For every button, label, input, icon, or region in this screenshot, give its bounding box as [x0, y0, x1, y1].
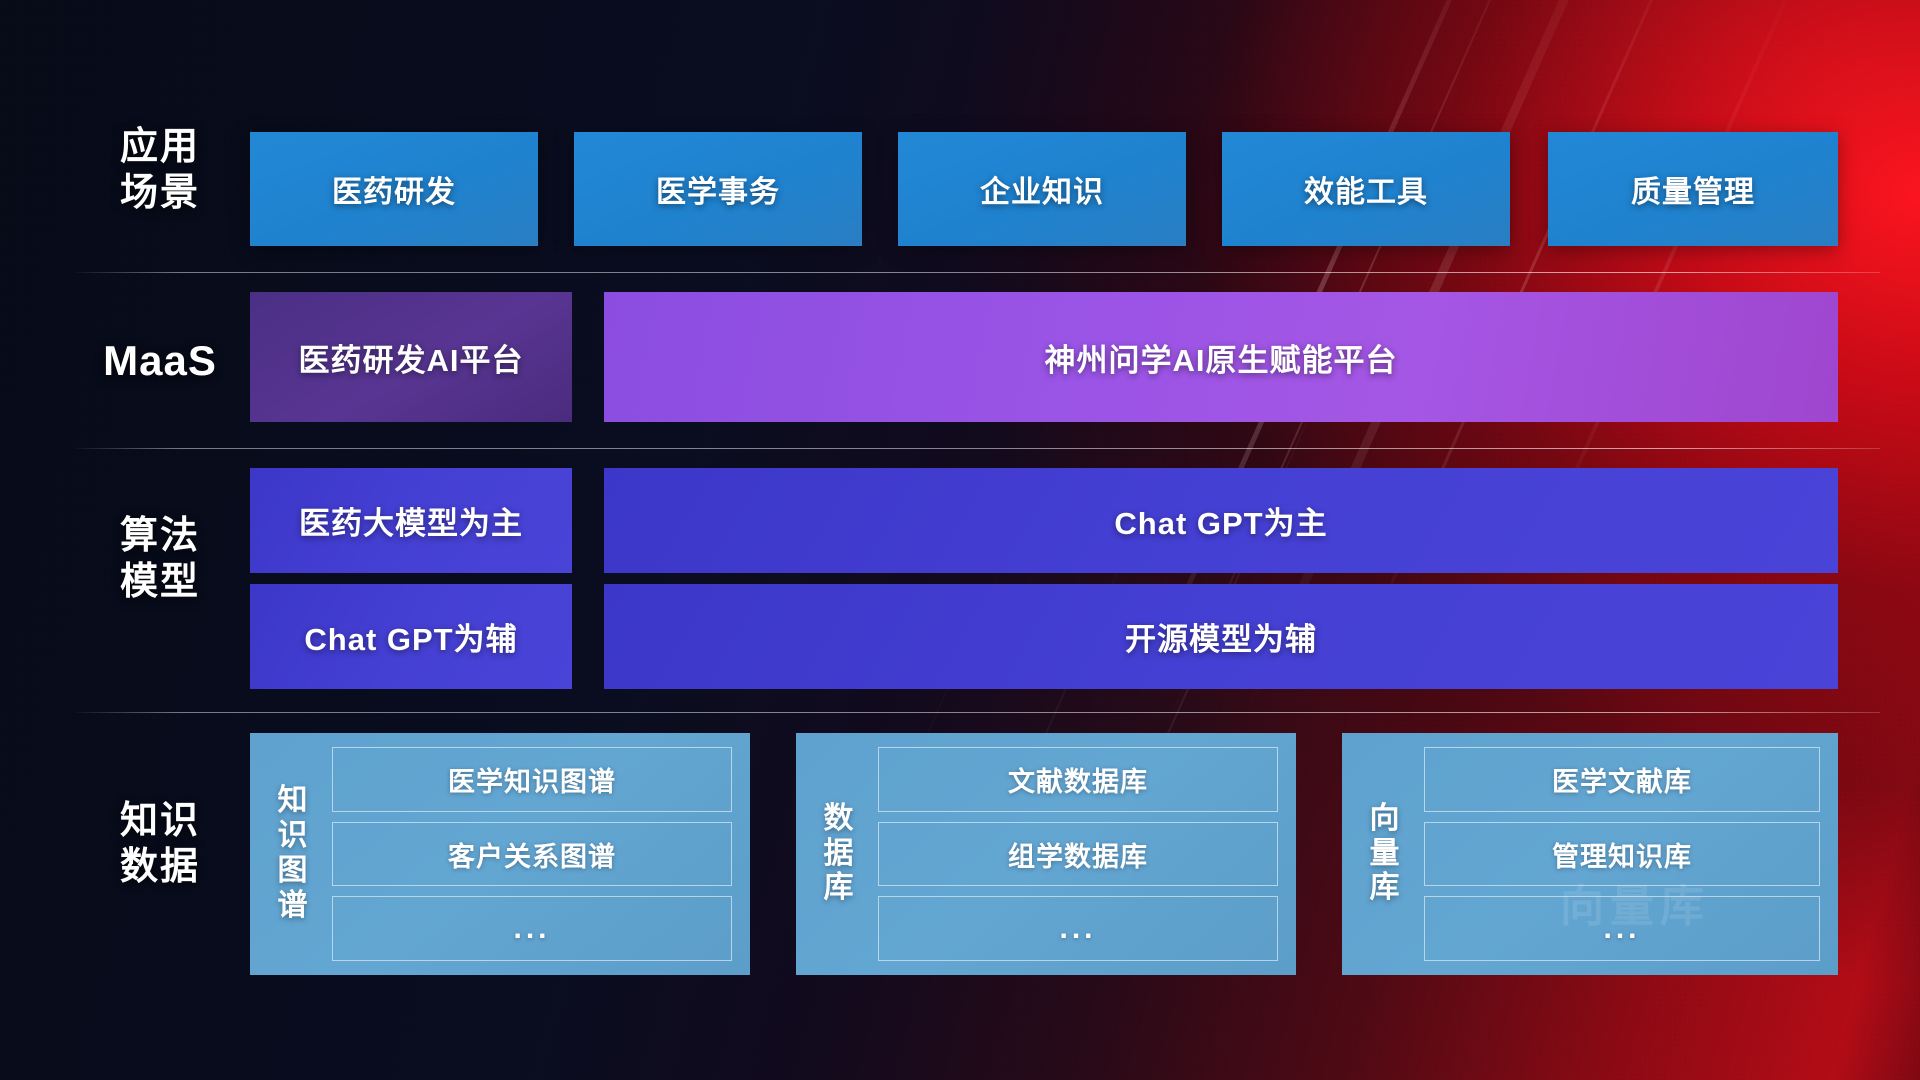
row-label-line-2: 模型 — [80, 559, 240, 605]
knowledge-group-vector-store[interactable]: 向量库 医学文献库 管理知识库 ... — [1342, 733, 1838, 975]
app-box-drug-rnd[interactable]: 医药研发 — [250, 132, 538, 246]
knowledge-group-item-list: 文献数据库 组学数据库 ... — [870, 747, 1278, 961]
knowledge-item-omics-db[interactable]: 组学数据库 — [878, 822, 1278, 887]
model-box-opensource-secondary[interactable]: 开源模型为辅 — [604, 584, 1838, 689]
maas-box-shenzhou-wenxue-platform[interactable]: 神州问学AI原生赋能平台 — [604, 292, 1838, 422]
app-box-quality-management[interactable]: 质量管理 — [1548, 132, 1838, 246]
knowledge-group-vertical-label: 向量库 — [1354, 802, 1416, 906]
divider-application-maas — [75, 272, 1880, 273]
maas-box-drug-rnd-ai-platform[interactable]: 医药研发AI平台 — [250, 292, 572, 422]
knowledge-group-item-list: 医学文献库 管理知识库 ... — [1416, 747, 1820, 961]
model-box-pharma-llm-primary[interactable]: 医药大模型为主 — [250, 468, 572, 573]
knowledge-item-medical-kg[interactable]: 医学知识图谱 — [332, 747, 732, 812]
row-label-knowledge-data: 知识 数据 — [80, 798, 240, 891]
knowledge-item-more[interactable]: ... — [1424, 896, 1820, 961]
app-box-medical-affairs[interactable]: 医学事务 — [574, 132, 862, 246]
model-box-chatgpt-secondary[interactable]: Chat GPT为辅 — [250, 584, 572, 689]
row-label-application-scenario: 应用 场景 — [80, 124, 240, 217]
knowledge-item-literature-db[interactable]: 文献数据库 — [878, 747, 1278, 812]
row-label-line-2: 场景 — [80, 170, 240, 216]
row-label-line-1: 应用 — [80, 124, 240, 170]
knowledge-group-database[interactable]: 数据库 文献数据库 组学数据库 ... — [796, 733, 1296, 975]
knowledge-item-customer-relation-kg[interactable]: 客户关系图谱 — [332, 822, 732, 887]
row-label-line-1: 知识 — [80, 798, 240, 844]
divider-model-knowledge — [75, 712, 1880, 713]
knowledge-item-management-knowledge-store[interactable]: 管理知识库 — [1424, 822, 1820, 887]
knowledge-item-medical-literature-store[interactable]: 医学文献库 — [1424, 747, 1820, 812]
knowledge-group-item-list: 医学知识图谱 客户关系图谱 ... — [324, 747, 732, 961]
row-label-line-1: 算法 — [80, 513, 240, 559]
architecture-diagram: 应用 场景 医药研发 医学事务 企业知识 效能工具 质量管理 MaaS 医药研发… — [0, 0, 1920, 1080]
knowledge-group-knowledge-graph[interactable]: 知识图谱 医学知识图谱 客户关系图谱 ... — [250, 733, 750, 975]
row-label-maas: MaaS — [80, 335, 240, 386]
knowledge-item-more[interactable]: ... — [332, 896, 732, 961]
row-label-line-2: 数据 — [80, 844, 240, 890]
row-label-algorithm-model: 算法 模型 — [80, 513, 240, 606]
knowledge-group-vertical-label: 知识图谱 — [262, 784, 324, 923]
knowledge-item-more[interactable]: ... — [878, 896, 1278, 961]
knowledge-group-vertical-label: 数据库 — [808, 802, 870, 906]
model-box-chatgpt-primary[interactable]: Chat GPT为主 — [604, 468, 1838, 573]
app-box-enterprise-knowledge[interactable]: 企业知识 — [898, 132, 1186, 246]
divider-maas-model — [75, 448, 1880, 449]
app-box-efficiency-tools[interactable]: 效能工具 — [1222, 132, 1510, 246]
